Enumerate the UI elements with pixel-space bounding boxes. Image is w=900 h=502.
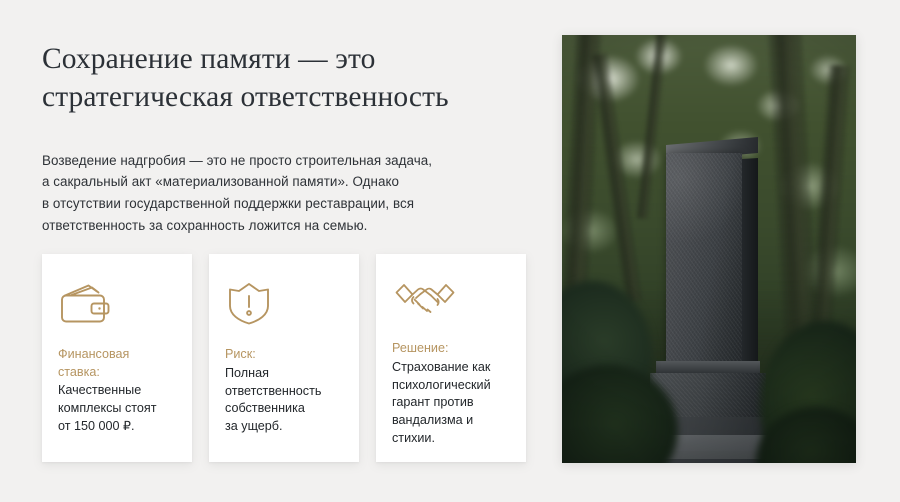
monument-photo-canvas — [562, 35, 856, 463]
monument-stele-side — [742, 158, 758, 365]
feature-card-body: Качественные комплексы стоят от 150 000 … — [58, 382, 176, 436]
feature-card-body: Страхование как психологический гарант п… — [392, 359, 510, 448]
monument-photo — [562, 35, 856, 463]
monument-stele — [666, 153, 742, 365]
wallet-icon — [58, 272, 176, 334]
feature-card-title: Риск: — [225, 346, 343, 364]
feature-card-solution[interactable]: Решение: Страхование как психологический… — [376, 254, 526, 462]
feature-card-text: Риск: Полная ответственность собственник… — [225, 334, 343, 436]
feature-card-title: Финансовая ставка: — [58, 346, 176, 381]
feature-card-list: Финансовая ставка: Качественные комплекс… — [42, 254, 528, 462]
shield-alert-icon — [225, 272, 343, 334]
intro-paragraph: Возведение надгробия — это не просто стр… — [42, 117, 532, 237]
page-title: Сохранение памяти — это стратегическая о… — [42, 40, 532, 117]
feature-card-text: Финансовая ставка: Качественные комплекс… — [58, 334, 176, 436]
monument-cornice — [656, 361, 760, 373]
feature-card-financial-stake[interactable]: Финансовая ставка: Качественные комплекс… — [42, 254, 192, 462]
feature-card-risk[interactable]: Риск: Полная ответственность собственник… — [209, 254, 359, 462]
feature-card-text: Решение: Страхование как психологический… — [392, 328, 510, 448]
left-content-column: Сохранение памяти — это стратегическая о… — [42, 40, 532, 237]
feature-card-body: Полная ответственность собственника за у… — [225, 365, 343, 437]
handshake-icon — [392, 272, 510, 328]
slide-root: Сохранение памяти — это стратегическая о… — [0, 0, 900, 502]
feature-card-title: Решение: — [392, 340, 510, 358]
